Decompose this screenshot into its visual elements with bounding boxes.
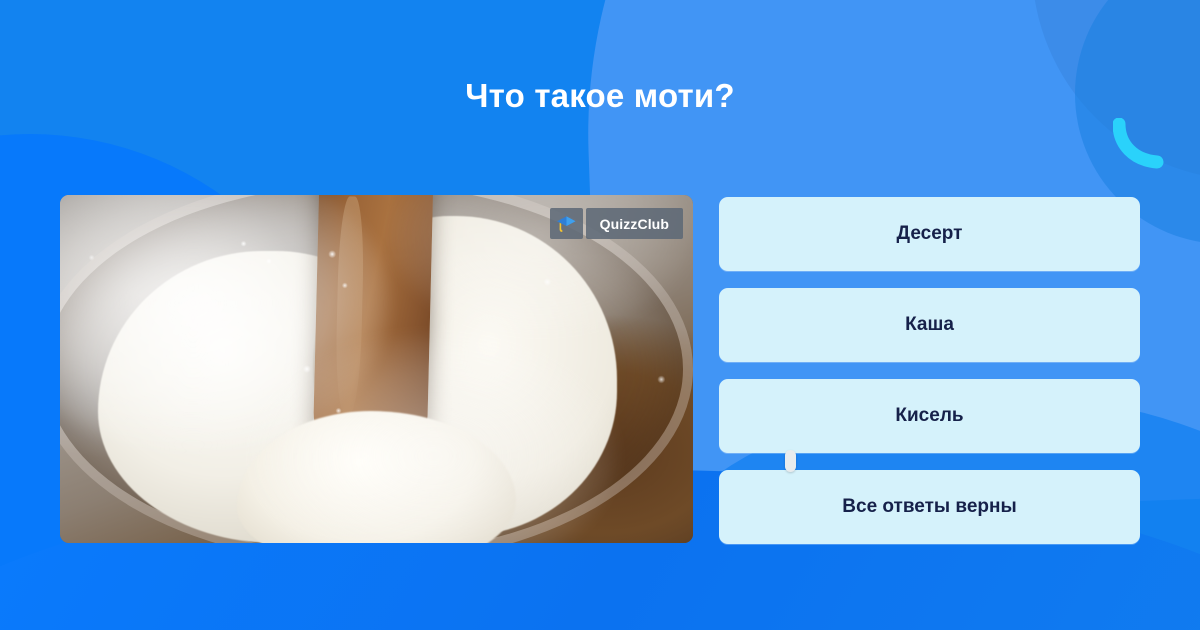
question-image-card: QuizzClub [60, 195, 693, 543]
graduation-cap-icon [550, 208, 583, 239]
answer-option-4[interactable]: Все ответы верны [719, 470, 1140, 544]
quiz-card-canvas: Что такое моти? QuizzClub [0, 0, 1200, 630]
scroll-indicator-nub[interactable] [785, 450, 796, 472]
rice-grain-speckles [60, 195, 693, 543]
page-title: Что такое моти? [0, 76, 1200, 116]
answer-option-1[interactable]: Десерт [719, 197, 1140, 271]
answer-option-3[interactable]: Кисель [719, 379, 1140, 453]
answer-options-list: Десерт Каша Кисель Все ответы верны [719, 197, 1140, 544]
answer-option-2[interactable]: Каша [719, 288, 1140, 362]
mochi-pounding-photo [60, 195, 693, 543]
watermark-brand-label: QuizzClub [586, 208, 683, 239]
curved-swoosh-icon [1113, 118, 1185, 170]
watermark: QuizzClub [550, 208, 683, 239]
